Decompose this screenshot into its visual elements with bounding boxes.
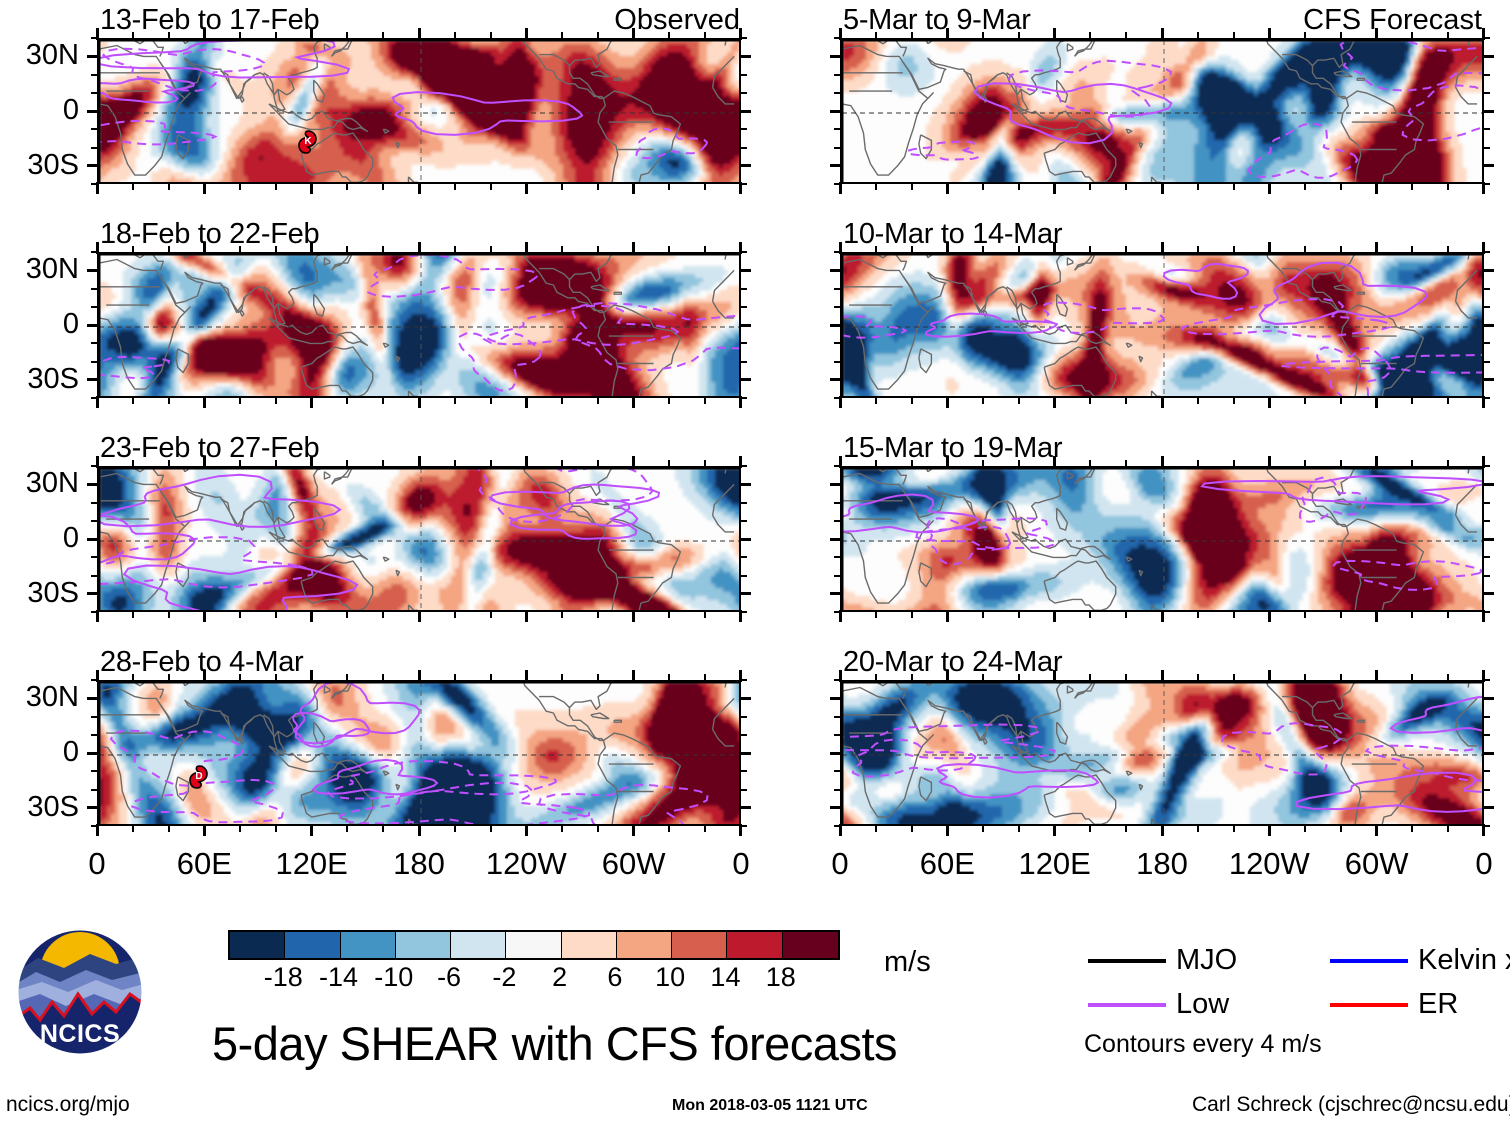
y-tick-right [1482, 324, 1494, 327]
y-minor-tick [740, 128, 747, 130]
x-minor-tick [1340, 460, 1342, 467]
x-tick [739, 182, 742, 194]
x-tick [946, 396, 949, 408]
x-tick [525, 824, 528, 836]
x-minor-tick [1447, 460, 1449, 467]
y-tick [87, 378, 99, 381]
y-minor-tick [91, 306, 98, 308]
x-minor-tick [1411, 825, 1413, 832]
y-minor-tick [740, 575, 747, 577]
x-minor-tick [132, 460, 134, 467]
x-tick [1375, 670, 1378, 682]
y-minor-tick [834, 716, 841, 718]
x-minor-tick [346, 246, 348, 253]
x-minor-tick [1411, 32, 1413, 39]
x-minor-tick [1340, 397, 1342, 404]
x-minor-tick [875, 183, 877, 190]
x-tick [418, 182, 421, 194]
x-tick [1053, 456, 1056, 468]
y-minor-tick [740, 716, 747, 718]
y-tick-right [739, 752, 751, 755]
x-minor-tick [875, 674, 877, 681]
x-minor-tick [382, 460, 384, 467]
y-axis-label: 30N [0, 469, 79, 498]
y-minor-tick [740, 502, 747, 504]
y-minor-tick [740, 306, 747, 308]
x-minor-tick [911, 183, 913, 190]
x-tick [1053, 182, 1056, 194]
x-tick [525, 670, 528, 682]
y-minor-tick [834, 770, 841, 772]
x-tick [203, 456, 206, 468]
x-tick [1161, 610, 1164, 622]
x-tick [632, 610, 635, 622]
x-minor-tick [1125, 246, 1127, 253]
x-tick [1375, 182, 1378, 194]
y-minor-tick [91, 342, 98, 344]
y-minor-tick [91, 288, 98, 290]
x-axis-label: 120E [995, 848, 1115, 879]
x-minor-tick [561, 397, 563, 404]
y-minor-tick [91, 502, 98, 504]
x-minor-tick [1447, 32, 1449, 39]
x-tick [525, 610, 528, 622]
y-minor-tick [91, 716, 98, 718]
x-minor-tick [168, 825, 170, 832]
x-tick [739, 456, 742, 468]
x-minor-tick [911, 246, 913, 253]
x-tick [525, 396, 528, 408]
x-minor-tick [1411, 611, 1413, 618]
x-tick [739, 242, 742, 254]
y-minor-tick [1483, 556, 1490, 558]
x-minor-tick [239, 825, 241, 832]
x-minor-tick [982, 183, 984, 190]
x-tick [96, 396, 99, 408]
y-minor-tick [740, 74, 747, 76]
y-tick-right [1482, 538, 1494, 541]
shear-anomaly-field [99, 40, 741, 184]
site-url[interactable]: ncics.org/mjo [6, 1093, 130, 1117]
x-minor-tick [561, 460, 563, 467]
x-tick [839, 670, 842, 682]
x-tick [1482, 610, 1485, 622]
y-tick-right [739, 806, 751, 809]
map-panel [840, 252, 1484, 398]
map-panel [840, 680, 1484, 826]
x-minor-tick [1089, 397, 1091, 404]
x-minor-tick [490, 246, 492, 253]
x-minor-tick [382, 246, 384, 253]
x-minor-tick [704, 825, 706, 832]
y-minor-tick [740, 288, 747, 290]
x-minor-tick [168, 611, 170, 618]
x-minor-tick [346, 183, 348, 190]
x-minor-tick [875, 611, 877, 618]
x-minor-tick [1233, 611, 1235, 618]
y-minor-tick [91, 361, 98, 363]
x-minor-tick [597, 611, 599, 618]
x-tick [1161, 824, 1164, 836]
panel-title: 23-Feb to 27-Feb [100, 434, 319, 463]
x-minor-tick [454, 183, 456, 190]
x-tick [310, 456, 313, 468]
y-minor-tick [740, 520, 747, 522]
y-minor-tick [834, 502, 841, 504]
x-minor-tick [454, 460, 456, 467]
x-minor-tick [239, 611, 241, 618]
shear-anomaly-field [99, 468, 741, 612]
x-minor-tick [982, 32, 984, 39]
x-minor-tick [168, 183, 170, 190]
x-minor-tick [1411, 460, 1413, 467]
x-tick [632, 396, 635, 408]
y-axis-label: 30S [0, 793, 79, 822]
map-panel [97, 466, 741, 612]
x-minor-tick [454, 397, 456, 404]
x-minor-tick [1125, 183, 1127, 190]
y-tick-right [1482, 164, 1494, 167]
y-tick [830, 110, 842, 113]
x-minor-tick [132, 825, 134, 832]
y-minor-tick [834, 288, 841, 290]
cyclone-marker: K [297, 130, 319, 154]
x-minor-tick [875, 397, 877, 404]
y-minor-tick [1483, 770, 1490, 772]
x-minor-tick [1018, 825, 1020, 832]
y-minor-tick [1483, 361, 1490, 363]
x-minor-tick [911, 611, 913, 618]
x-tick [632, 670, 635, 682]
x-minor-tick [1089, 674, 1091, 681]
column-header-forecast: CFS Forecast [0, 6, 1482, 35]
y-axis-label: 30N [0, 41, 79, 70]
legend-item-mjo: MJO [1088, 946, 1237, 975]
y-minor-tick [1483, 342, 1490, 344]
x-minor-tick [490, 674, 492, 681]
x-minor-tick [1125, 397, 1127, 404]
x-tick [632, 182, 635, 194]
y-minor-tick [1483, 502, 1490, 504]
x-axis-label: 0 [780, 848, 900, 879]
y-minor-tick [1483, 92, 1490, 94]
ncics-logo: NCICS [16, 928, 144, 1056]
x-tick [1482, 396, 1485, 408]
x-minor-tick [1089, 460, 1091, 467]
x-minor-tick [132, 397, 134, 404]
panel-title: 15-Mar to 19-Mar [843, 434, 1062, 463]
x-axis-label: 180 [1102, 848, 1222, 879]
x-minor-tick [1304, 825, 1306, 832]
y-tick [830, 324, 842, 327]
x-minor-tick [1304, 460, 1306, 467]
y-tick-right [1482, 806, 1494, 809]
x-tick [310, 824, 313, 836]
x-minor-tick [1447, 611, 1449, 618]
y-tick [830, 697, 842, 700]
x-minor-tick [597, 397, 599, 404]
x-tick [310, 396, 313, 408]
shear-anomaly-field [842, 40, 1484, 184]
y-tick-right [739, 697, 751, 700]
x-tick [1161, 670, 1164, 682]
x-minor-tick [382, 611, 384, 618]
y-minor-tick [1483, 520, 1490, 522]
x-tick [525, 456, 528, 468]
x-tick [203, 610, 206, 622]
timestamp: Mon 2018-03-05 1121 UTC [672, 1097, 868, 1115]
x-minor-tick [1447, 183, 1449, 190]
y-minor-tick [740, 770, 747, 772]
x-tick [418, 396, 421, 408]
y-minor-tick [91, 556, 98, 558]
x-minor-tick [1018, 183, 1020, 190]
x-minor-tick [168, 674, 170, 681]
x-minor-tick [1018, 32, 1020, 39]
x-minor-tick [168, 397, 170, 404]
panel-title: 28-Feb to 4-Mar [100, 648, 303, 677]
x-tick [1482, 824, 1485, 836]
x-tick [1375, 824, 1378, 836]
x-minor-tick [490, 460, 492, 467]
map-panel [97, 38, 741, 184]
x-minor-tick [668, 397, 670, 404]
colorbar [228, 930, 840, 960]
x-minor-tick [454, 246, 456, 253]
x-minor-tick [704, 183, 706, 190]
x-minor-tick [168, 246, 170, 253]
shear-anomaly-field [842, 682, 1484, 826]
x-tick [946, 242, 949, 254]
x-minor-tick [1197, 32, 1199, 39]
y-tick-right [1482, 378, 1494, 381]
colorbar-segment-0 [230, 932, 285, 958]
x-minor-tick [1340, 32, 1342, 39]
x-tick [203, 182, 206, 194]
x-tick [1053, 824, 1056, 836]
colorbar-segment-3 [396, 932, 451, 958]
x-tick [946, 670, 949, 682]
y-tick [830, 592, 842, 595]
y-tick [87, 806, 99, 809]
x-tick [839, 182, 842, 194]
x-minor-tick [1304, 32, 1306, 39]
x-minor-tick [1447, 246, 1449, 253]
y-minor-tick [91, 520, 98, 522]
x-tick [739, 670, 742, 682]
x-tick [1161, 28, 1164, 40]
y-tick [830, 538, 842, 541]
y-minor-tick [740, 789, 747, 791]
legend-label: MJO [1176, 946, 1237, 975]
x-tick [310, 182, 313, 194]
x-tick [839, 456, 842, 468]
y-axis-label: 0 [0, 524, 79, 553]
x-minor-tick [1018, 246, 1020, 253]
x-minor-tick [1089, 825, 1091, 832]
x-minor-tick [1197, 183, 1199, 190]
legend-line-swatch [1088, 1003, 1166, 1007]
x-tick [739, 824, 742, 836]
x-minor-tick [668, 674, 670, 681]
x-minor-tick [911, 397, 913, 404]
colorbar-segment-8 [672, 932, 727, 958]
x-minor-tick [668, 825, 670, 832]
y-tick-right [739, 269, 751, 272]
x-minor-tick [597, 460, 599, 467]
colorbar-segment-4 [451, 932, 506, 958]
x-tick [632, 456, 635, 468]
y-minor-tick [740, 361, 747, 363]
x-tick [203, 242, 206, 254]
y-tick [87, 110, 99, 113]
x-minor-tick [275, 183, 277, 190]
x-minor-tick [490, 825, 492, 832]
x-minor-tick [490, 397, 492, 404]
x-tick [1161, 242, 1164, 254]
x-minor-tick [1304, 183, 1306, 190]
x-tick [1053, 610, 1056, 622]
x-tick [1053, 242, 1056, 254]
legend-item-low: Low [1088, 990, 1229, 1019]
x-tick [96, 610, 99, 622]
y-axis-label: 0 [0, 310, 79, 339]
y-minor-tick [834, 342, 841, 344]
x-minor-tick [1411, 183, 1413, 190]
x-minor-tick [346, 825, 348, 832]
x-minor-tick [1197, 460, 1199, 467]
x-minor-tick [561, 183, 563, 190]
y-minor-tick [834, 306, 841, 308]
x-minor-tick [239, 246, 241, 253]
y-minor-tick [91, 128, 98, 130]
x-minor-tick [911, 32, 913, 39]
y-minor-tick [740, 734, 747, 736]
x-tick [203, 670, 206, 682]
y-minor-tick [834, 361, 841, 363]
x-minor-tick [704, 611, 706, 618]
x-minor-tick [1018, 611, 1020, 618]
x-minor-tick [132, 611, 134, 618]
y-tick-right [739, 592, 751, 595]
x-tick [1375, 396, 1378, 408]
y-tick [830, 55, 842, 58]
x-tick [1268, 670, 1271, 682]
x-minor-tick [382, 674, 384, 681]
cyclone-marker: D [188, 765, 210, 789]
x-minor-tick [1411, 397, 1413, 404]
y-tick-right [1482, 110, 1494, 113]
x-tick [1482, 670, 1485, 682]
x-minor-tick [982, 246, 984, 253]
x-tick [1482, 28, 1485, 40]
x-minor-tick [668, 611, 670, 618]
x-tick [946, 456, 949, 468]
legend-label: ER [1418, 990, 1458, 1019]
x-tick [1268, 610, 1271, 622]
x-minor-tick [597, 674, 599, 681]
x-minor-tick [1411, 674, 1413, 681]
y-tick [87, 592, 99, 595]
x-tick [1268, 396, 1271, 408]
x-tick [839, 610, 842, 622]
x-tick [1375, 456, 1378, 468]
y-minor-tick [834, 789, 841, 791]
legend-label: Kelvin x2 [1418, 946, 1510, 975]
x-minor-tick [561, 611, 563, 618]
y-minor-tick [1483, 734, 1490, 736]
y-axis-label: 0 [0, 738, 79, 767]
y-tick-right [1482, 592, 1494, 595]
y-minor-tick [740, 92, 747, 94]
x-minor-tick [1447, 397, 1449, 404]
y-tick-right [739, 55, 751, 58]
x-minor-tick [132, 246, 134, 253]
x-minor-tick [1089, 611, 1091, 618]
x-minor-tick [1233, 460, 1235, 467]
x-minor-tick [454, 674, 456, 681]
y-tick-right [739, 378, 751, 381]
x-minor-tick [561, 246, 563, 253]
x-tick [839, 824, 842, 836]
x-minor-tick [982, 674, 984, 681]
x-minor-tick [1340, 183, 1342, 190]
x-axis-label: 60W [1317, 848, 1437, 879]
y-tick [87, 538, 99, 541]
y-minor-tick [91, 770, 98, 772]
x-tick [1161, 182, 1164, 194]
x-minor-tick [1304, 674, 1306, 681]
x-tick [418, 242, 421, 254]
x-axis-label: 60E [887, 848, 1007, 879]
y-tick [830, 378, 842, 381]
x-tick [739, 610, 742, 622]
x-axis-label: 120W [466, 848, 586, 879]
x-tick [1053, 396, 1056, 408]
y-tick [830, 164, 842, 167]
x-minor-tick [1197, 674, 1199, 681]
x-minor-tick [346, 460, 348, 467]
y-minor-tick [91, 575, 98, 577]
y-minor-tick [740, 556, 747, 558]
x-tick [96, 182, 99, 194]
y-minor-tick [91, 789, 98, 791]
x-tick [418, 670, 421, 682]
y-tick [87, 164, 99, 167]
x-tick [1482, 182, 1485, 194]
x-tick [1482, 456, 1485, 468]
y-minor-tick [1483, 288, 1490, 290]
x-minor-tick [911, 460, 913, 467]
x-minor-tick [1340, 825, 1342, 832]
x-minor-tick [239, 397, 241, 404]
x-tick [1482, 242, 1485, 254]
x-minor-tick [239, 674, 241, 681]
ncics-logo-text: NCICS [16, 1020, 144, 1049]
y-minor-tick [1483, 306, 1490, 308]
y-axis-label: 0 [0, 96, 79, 125]
y-tick-right [1482, 269, 1494, 272]
x-tick [1375, 28, 1378, 40]
x-minor-tick [1197, 825, 1199, 832]
x-minor-tick [275, 460, 277, 467]
x-tick [1268, 182, 1271, 194]
x-minor-tick [668, 460, 670, 467]
x-minor-tick [1125, 611, 1127, 618]
y-minor-tick [740, 342, 747, 344]
y-minor-tick [1483, 128, 1490, 130]
x-axis-label: 0 [37, 848, 157, 879]
